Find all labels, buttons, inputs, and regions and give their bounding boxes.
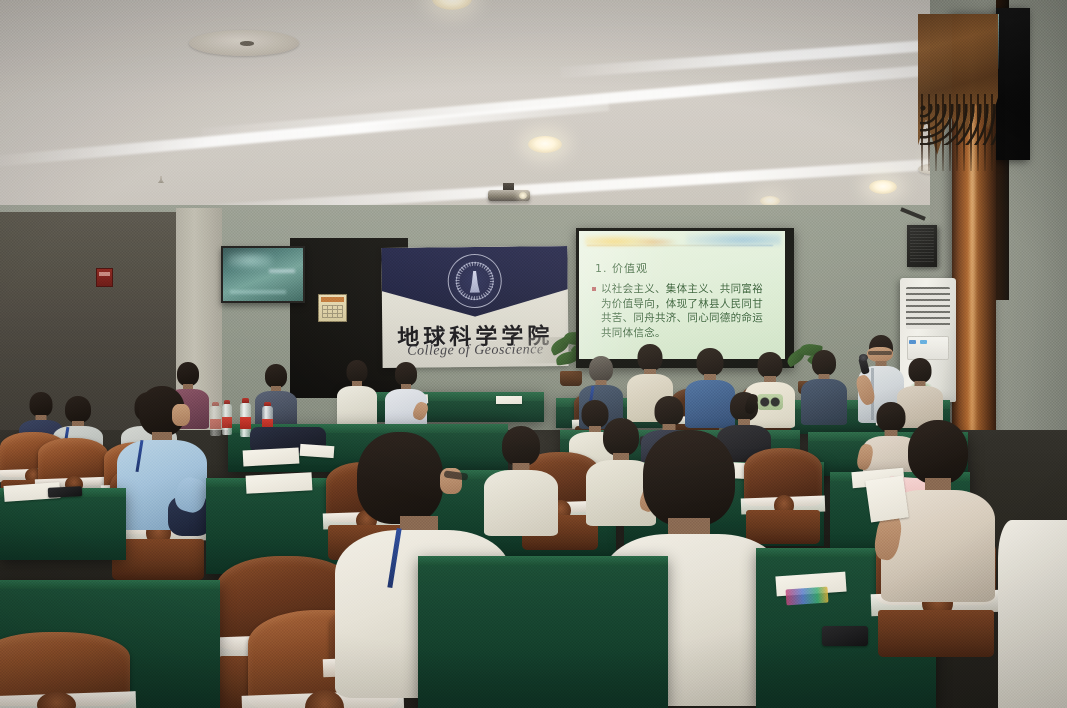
tv-text-line-2 [230,290,286,293]
glasses-icon [868,351,892,355]
valance-beads [920,104,997,146]
bottle-label [222,417,232,428]
attendee-head [909,358,932,383]
smartphone[interactable] [48,486,82,498]
downlight-2 [528,136,562,153]
fire-safety-sign [96,268,113,287]
handout-paper [246,472,313,493]
attendee-torso [998,520,1067,708]
wall-speaker [907,225,937,267]
projection-screen: 1. 价值观 以社会主义、集体主义、共同富裕为价值导向，体现了林县人民同甘共苦、… [579,231,785,359]
attendee-head [65,396,91,423]
attendee-head [812,350,836,376]
attendee-head [638,344,663,371]
handout-paper [496,396,522,404]
table-edge [418,556,668,565]
attendee-head-grey [589,356,613,382]
attendee-head [30,392,53,417]
bottle-label [210,419,221,429]
bottle-cap [212,402,218,407]
attendee-head [265,364,287,388]
ac-led-indicator-2 [920,340,927,344]
tv-text-line-1 [269,269,295,273]
attendee-head [357,432,443,524]
projector-lens-icon [519,192,527,199]
attendee-head [908,420,968,484]
colorful-brochure [785,587,828,606]
handout-paper [243,448,300,467]
bottle-label [240,417,251,429]
attendee-head [697,348,724,376]
attendee-head [643,430,735,526]
smartphone[interactable] [822,626,868,646]
ac-vents [906,287,950,329]
attendee-far-right [998,520,1067,708]
attendee-head [655,396,684,426]
department-banner: 地球科学学院 College of Geoscience [381,246,568,368]
speaker-grille [910,228,934,264]
university-emblem-icon [447,254,502,309]
attendee-blue-polo [114,386,210,546]
bottle-cap [264,402,270,407]
water-bottle [210,406,221,436]
attendee-face-profile [172,404,190,426]
bottle-cap [224,400,230,405]
table-row [418,556,668,708]
conference-room-photo: 地球科学学院 College of Geoscience 1. 价值观 以社会主… [0,0,1067,708]
attendee-head [177,362,199,386]
projection-screen-frame: 1. 价值观 以社会主义、集体主义、共同富裕为价值导向，体现了林县人民同甘共苦、… [576,228,794,368]
screen-glare [579,231,713,359]
sprinkler-head-icon [158,176,164,183]
table-edge [0,580,220,589]
attendee-head [347,360,368,383]
ceiling [0,0,1067,228]
attendee [800,350,848,422]
chair [0,632,130,708]
attendee [384,362,428,426]
attendee-torso [801,379,847,425]
attendee-head [758,352,783,378]
attendee [336,360,378,422]
tv-screen-glow [228,253,272,268]
chair-skirt [878,610,993,657]
wall-mounted-monitor-right[interactable] [996,8,1030,160]
decorative-valance [918,14,998,174]
downlight-4 [869,180,897,194]
ac-led-indicator [909,340,916,344]
microphone-head-icon [859,354,868,361]
ceiling-projector [488,183,530,203]
smoke-detector-icon [189,30,299,56]
wall-mounted-tv-left[interactable] [221,246,305,303]
door-notice-sign [318,294,347,322]
attendee-head [395,362,417,386]
attendee-torso [337,386,377,426]
attendee [254,364,298,426]
handout-paper [865,476,908,523]
handout-paper [300,444,335,458]
bottle-cap [242,398,248,403]
water-bottle [222,404,232,435]
